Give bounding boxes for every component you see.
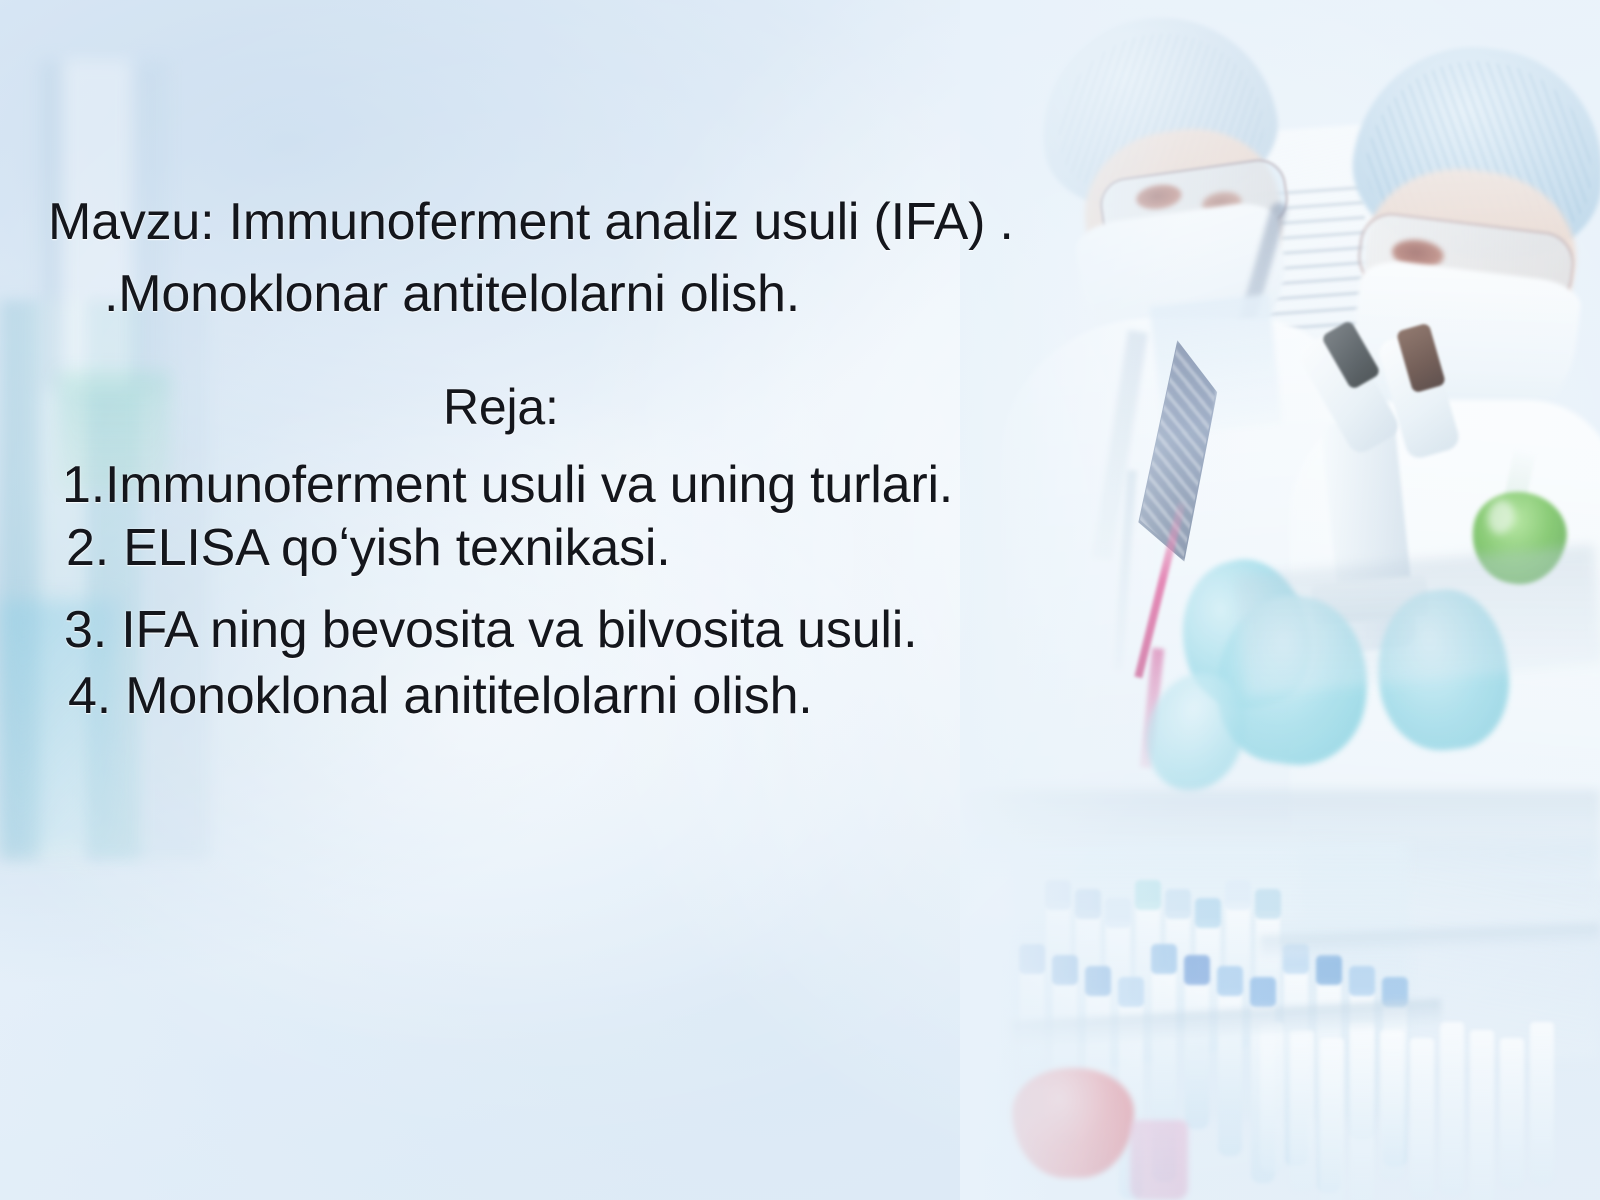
plan-item-2: 2. ELISA qoʻyish texnikasi. bbox=[66, 518, 670, 578]
presentation-slide: Mavzu: Immunoferment analiz usuli (IFA) … bbox=[0, 0, 1600, 1200]
plan-item-1: 1.Immunoferment usuli va uning turlari. bbox=[62, 455, 953, 515]
plan-item-3: 3. IFA ning bevosita va bilvosita usuli. bbox=[64, 600, 917, 660]
slide-text-layer: Mavzu: Immunoferment analiz usuli (IFA) … bbox=[0, 0, 1600, 1200]
plan-item-4: 4. Monoklonal anititelolarni olish. bbox=[68, 666, 813, 726]
plan-heading: Reja: bbox=[443, 378, 559, 436]
slide-title-line-2: .Monoklonar antitelolarni olish. bbox=[104, 264, 800, 324]
slide-title-line-1: Mavzu: Immunoferment analiz usuli (IFA) … bbox=[48, 192, 1014, 252]
